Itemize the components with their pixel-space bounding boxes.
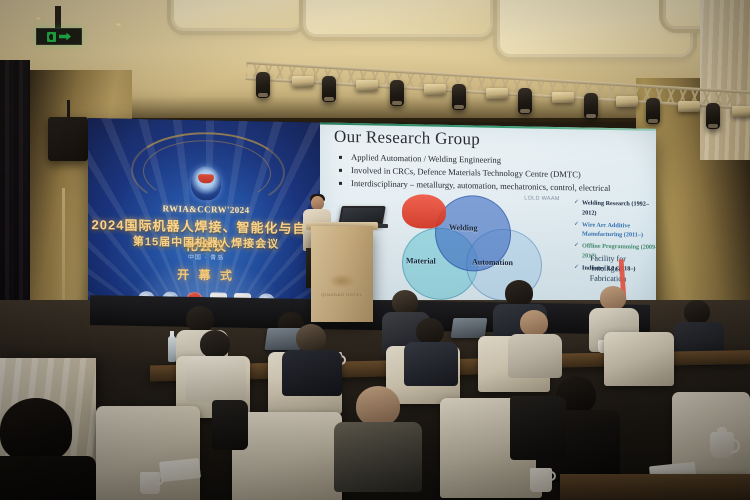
podium: QINGDAO HOTEL [311,226,373,322]
venn-label-automation: Automation [472,257,513,267]
checklist-item: ✓ Wire Arc Additive Manufacturing (2011–… [574,220,656,241]
conference-chair [232,412,342,500]
downlight [114,22,123,27]
checklist-label: Wire Arc Additive Manufacturing (2011–) [582,220,656,241]
check-icon: ✓ [574,220,579,239]
ceiling-speaker [48,117,88,161]
conference-hall-photo: RWIA&CCRW'2024 2024国际机器人焊接、智能化与自动化会议 第15… [0,0,750,500]
draped-jacket [510,396,566,460]
exit-sign-mount [55,6,61,30]
podium-logo-text: QINGDAO HOTEL [317,292,367,297]
venn-label-welding: Welding [449,223,477,233]
right-curtain [700,0,750,160]
ceiling-light-panel [306,0,490,34]
venn-label-material: Material [406,256,436,266]
podium-logo-icon [329,274,355,288]
running-person-icon [47,32,56,42]
coffee-cup [140,472,160,494]
arrow-right-icon [59,32,71,42]
checklist-item: ✓ Welding Research (1992–2012) [574,198,656,219]
conference-chair [604,332,674,386]
check-icon: ✓ [574,198,579,217]
slide-bullet-list: Applied Automation / Welding Engineering… [340,151,652,197]
ceiling-light-panel [500,0,690,54]
audience-table [560,474,750,500]
checklist-label: Welding Research (1992–2012) [582,198,656,219]
venn-intersection-core [402,194,446,229]
teapot [710,432,734,458]
speaker-head [311,196,324,210]
conference-emblem-icon [191,166,221,201]
coffee-cup [530,468,552,492]
slide-faint-note: LOLD WAAM [516,194,568,203]
downlight [34,16,43,21]
water-bottle [168,336,176,362]
attendee-laptop [451,318,488,338]
emergency-exit-sign [36,28,82,45]
ceiling-light-panel [174,0,300,28]
draped-jacket [212,400,248,450]
folded-napkin [159,458,201,482]
slide-title: Our Research Group [334,127,480,150]
